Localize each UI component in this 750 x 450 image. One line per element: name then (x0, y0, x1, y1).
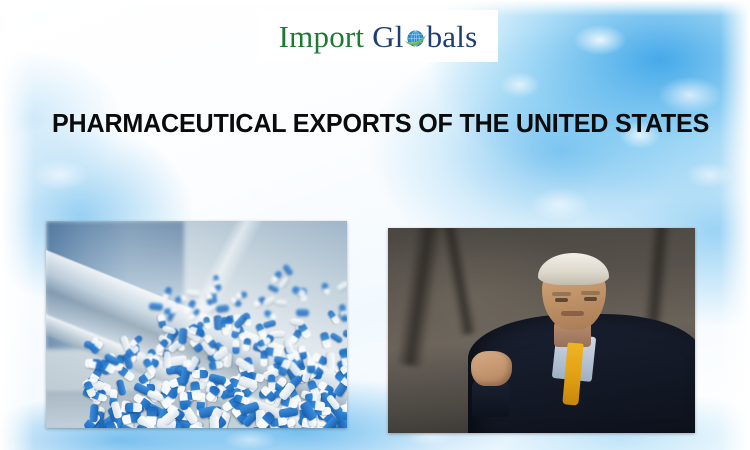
page-title: PHARMACEUTICAL EXPORTS OF THE UNITED STA… (52, 110, 690, 139)
capsule-photo-pills (46, 221, 347, 428)
capsule (242, 337, 251, 351)
pharma-exports-banner: Import Gl bals PHARMACEUTICAL EXPORTS OF… (0, 0, 750, 450)
capsule (163, 307, 177, 315)
capsule (210, 283, 223, 295)
capsule (337, 280, 347, 291)
capsule (278, 277, 289, 290)
capsule (215, 304, 229, 312)
capsule (178, 328, 188, 345)
capsule (321, 282, 330, 295)
logo-word-bals: bals (427, 19, 478, 54)
capsule (320, 331, 332, 348)
capsule (164, 351, 171, 368)
capsule (192, 370, 208, 378)
capsule (296, 309, 309, 316)
capsule (343, 330, 347, 338)
capsule (329, 331, 343, 343)
globe-icon (403, 25, 428, 50)
capsule (326, 352, 334, 368)
capsule (162, 286, 173, 301)
capsule (210, 415, 219, 428)
capsule (289, 318, 304, 326)
capsule (225, 317, 232, 331)
capsule (236, 291, 248, 299)
capsule (175, 294, 188, 303)
logo-wordmark: Import Gl bals (279, 21, 478, 52)
politician-photo-fist (471, 351, 512, 386)
capsule (267, 284, 279, 293)
logo[interactable]: Import Gl bals (258, 10, 498, 62)
capsule (204, 316, 212, 329)
politician-photo-brow-right (581, 291, 599, 296)
politician-photo-eye-right (584, 297, 597, 301)
capsule (291, 285, 306, 298)
capsule (341, 403, 347, 420)
capsule (264, 309, 278, 321)
capsule (308, 358, 316, 373)
capsule (327, 310, 341, 326)
capsule (263, 319, 277, 328)
photo-pharmaceutical-capsules (46, 221, 347, 428)
logo-word-import: Import (279, 19, 365, 54)
capsule (282, 264, 294, 278)
capsule (148, 302, 163, 310)
politician-photo-mouth (561, 311, 584, 316)
capsule (185, 289, 199, 296)
capsule (232, 341, 239, 355)
capsule (262, 295, 276, 306)
photo-politician (388, 228, 695, 433)
politician-photo-brow-left (552, 292, 570, 297)
capsule (269, 375, 276, 391)
capsule (275, 300, 287, 306)
logo-word-gl: Gl (372, 19, 403, 54)
capsule (125, 402, 142, 411)
politician-photo-eye-left (555, 298, 568, 302)
